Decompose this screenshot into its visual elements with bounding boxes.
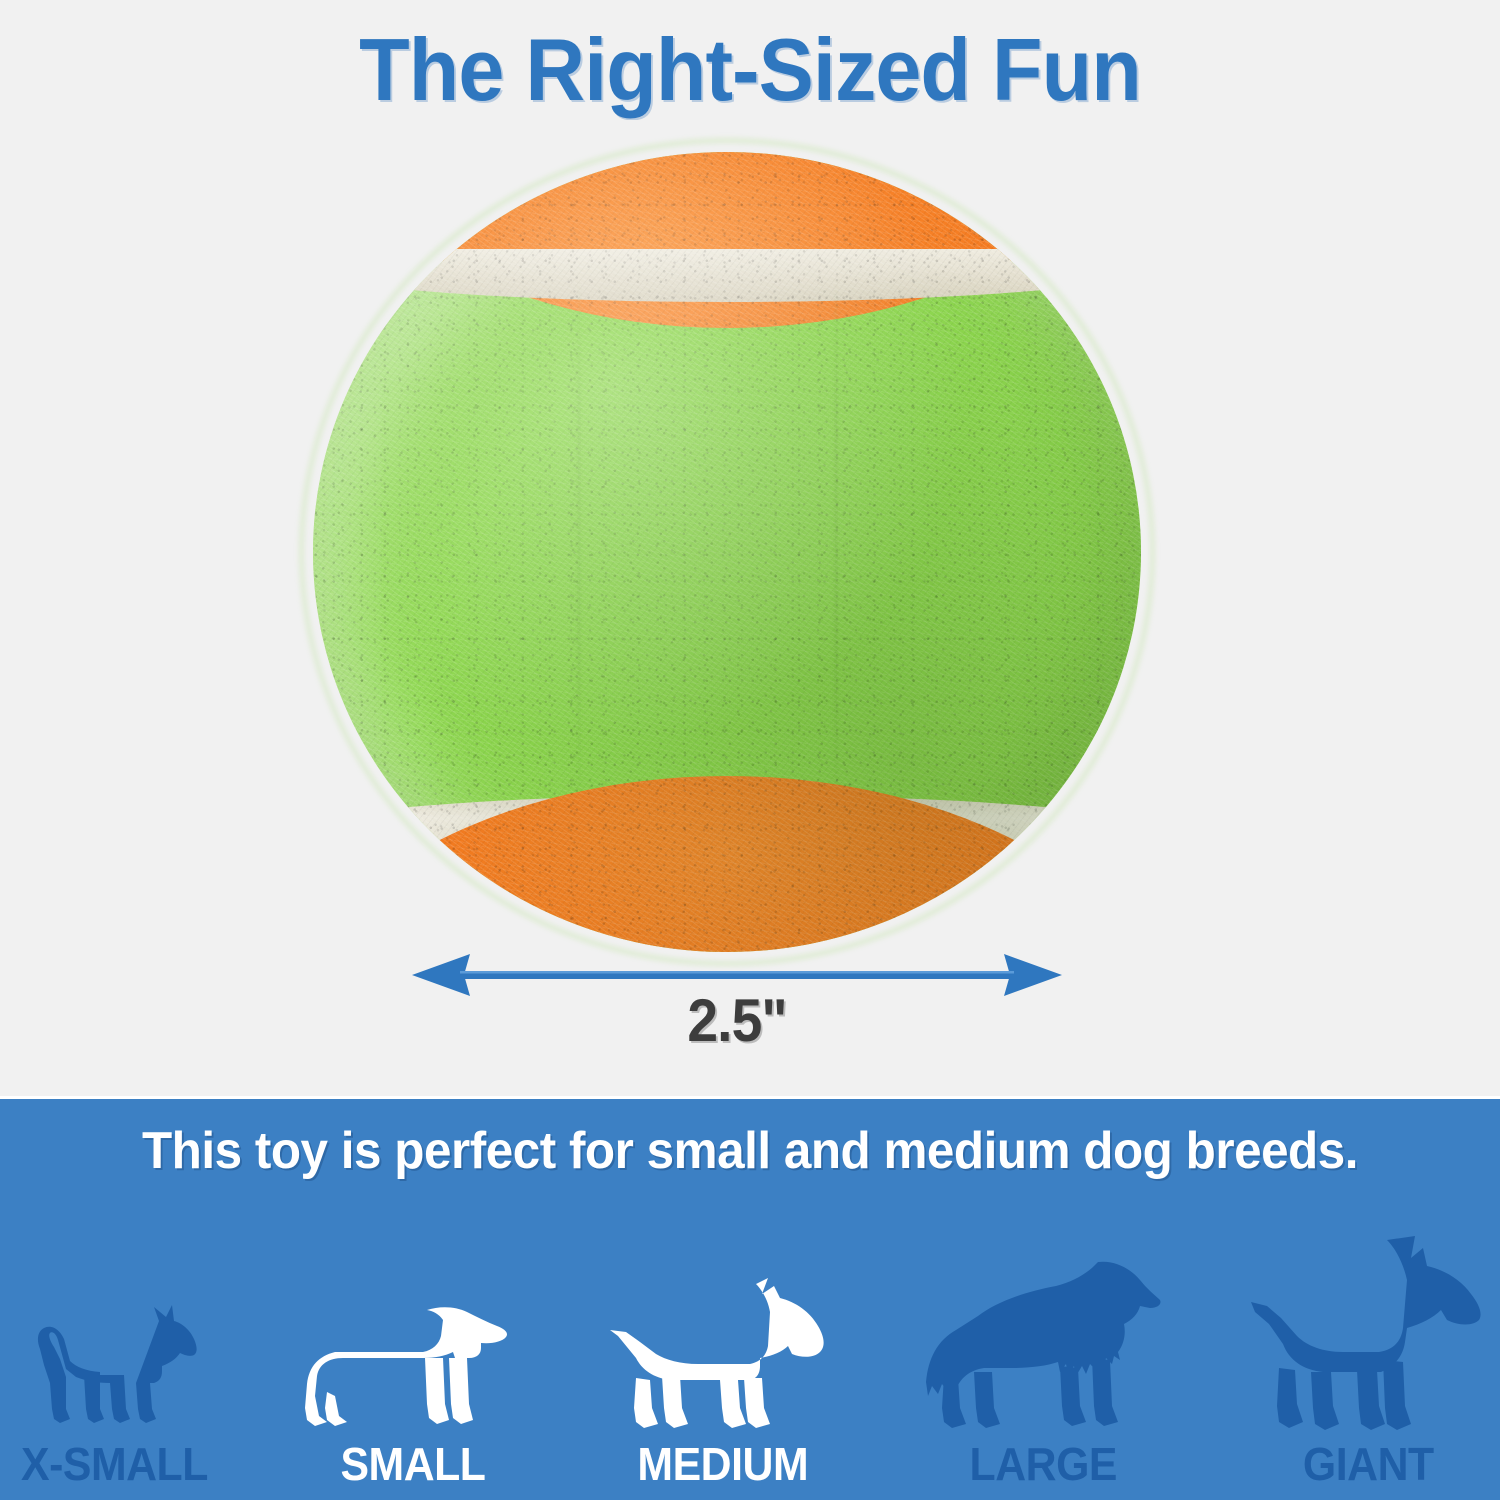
- golden-retriever-silhouette-icon: [926, 1252, 1161, 1437]
- size-option-x-small[interactable]: X-SMALL: [14, 1187, 215, 1487]
- banner-headline: This toy is perfect for small and medium…: [38, 1121, 1463, 1181]
- size-label-small: SMALL: [340, 1441, 485, 1487]
- tennis-ball-image: [313, 152, 1141, 952]
- ball-vertical-seam-right: [835, 280, 837, 824]
- dachshund-silhouette-icon: [305, 1292, 520, 1437]
- size-option-giant[interactable]: GIANT: [1251, 1187, 1486, 1487]
- ball-vertical-seam-left: [578, 280, 580, 824]
- size-label-medium: MEDIUM: [638, 1441, 809, 1487]
- ball-orange-cap-top: [313, 152, 1141, 328]
- size-label-x-small: X-SMALL: [21, 1441, 208, 1487]
- size-option-large[interactable]: LARGE: [926, 1187, 1161, 1487]
- size-label-giant: GIANT: [1303, 1441, 1434, 1487]
- great-dane-silhouette-icon: [1251, 1232, 1486, 1437]
- chihuahua-silhouette-icon: [14, 1297, 214, 1437]
- size-label-large: LARGE: [970, 1441, 1117, 1487]
- size-option-medium[interactable]: MEDIUM: [610, 1187, 835, 1487]
- breed-size-banner: This toy is perfect for small and medium…: [0, 1096, 1500, 1500]
- ball-seam-top: [313, 249, 1141, 302]
- breed-size-scale: X-SMALL SMALL MEDIUM: [0, 1187, 1500, 1487]
- product-photo-panel: The Right-Sized Fun: [0, 0, 1500, 1096]
- page-title: The Right-Sized Fun: [45, 26, 1455, 114]
- tennis-ball: [313, 152, 1141, 952]
- size-option-small[interactable]: SMALL: [305, 1187, 520, 1487]
- product-infographic: The Right-Sized Fun: [0, 0, 1500, 1500]
- ball-orange-cap-bottom: [313, 776, 1141, 952]
- dimension-label: 2.5": [438, 986, 1036, 1055]
- bull-terrier-silhouette-icon: [610, 1272, 835, 1437]
